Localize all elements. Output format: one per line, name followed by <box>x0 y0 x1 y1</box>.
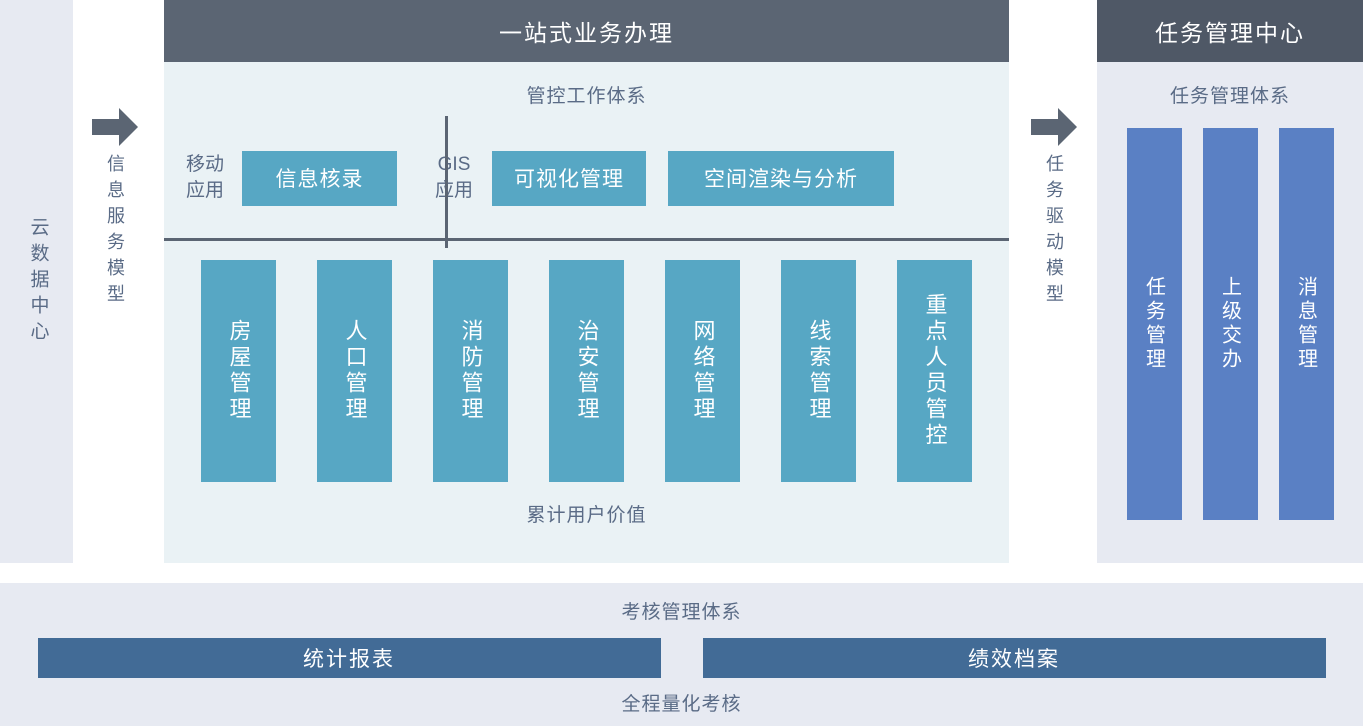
module-clue-management[interactable]: 线索管理 <box>781 260 856 482</box>
assessment-panel-footer: 全程量化考核 <box>0 678 1363 716</box>
gis-application-label: GIS 应用 <box>435 152 473 203</box>
module-population-management[interactable]: 人口管理 <box>317 260 392 482</box>
task-column-superior-assignment[interactable]: 上级交办 <box>1203 128 1258 520</box>
assessment-management-panel: 考核管理体系 统计报表 绩效档案 全程量化考核 <box>0 583 1363 726</box>
assessment-bars: 统计报表 绩效档案 <box>0 624 1363 678</box>
task-management-center-panel: 任务管理中心 任务管理体系 任务管理 上级交办 消息管理 <box>1097 0 1363 563</box>
right-panel-header-label: 任务管理中心 <box>1155 14 1305 48</box>
app-chip-visual-management[interactable]: 可视化管理 <box>492 151 646 206</box>
cloud-data-center-column: 云数据中心 <box>0 0 73 563</box>
module-public-security-management[interactable]: 治安管理 <box>549 260 624 482</box>
applications-row: 移动 应用 信息核录 GIS 应用 可视化管理 空间渲染与分析 <box>164 108 1009 248</box>
task-column-task-management[interactable]: 任务管理 <box>1127 128 1182 520</box>
app-chip-spatial-rendering-analysis[interactable]: 空间渲染与分析 <box>668 151 894 206</box>
information-service-model-label: 信息服务模型 <box>102 154 128 310</box>
assessment-bar-performance-archive[interactable]: 绩效档案 <box>703 638 1326 678</box>
one-stop-business-panel: 一站式业务办理 管控工作体系 移动 应用 信息核录 GIS 应用 可视化管理 空 <box>164 0 1009 563</box>
diagram-root: 云数据中心 信息服务模型 一站式业务办理 管控工作体系 移动 应用 信息核录 <box>0 0 1363 726</box>
mobile-application-label: 移动 应用 <box>186 152 224 203</box>
module-key-personnel-control[interactable]: 重点人员管控 <box>897 260 972 482</box>
center-panel-header: 一站式业务办理 <box>164 0 1009 62</box>
assessment-panel-title: 考核管理体系 <box>0 583 1363 624</box>
right-panel-header: 任务管理中心 <box>1097 0 1363 62</box>
module-columns: 房屋管理 人口管理 消防管理 治安管理 网络管理 线索管理 重点人员管控 <box>164 260 1009 482</box>
module-network-management[interactable]: 网络管理 <box>665 260 740 482</box>
cloud-data-center-label: 云数据中心 <box>22 217 52 347</box>
module-housing-management[interactable]: 房屋管理 <box>201 260 276 482</box>
task-columns: 任务管理 上级交办 消息管理 <box>1097 128 1363 520</box>
applications-divider <box>445 116 448 248</box>
task-driven-model-label: 任务驱动模型 <box>1041 154 1067 310</box>
task-column-message-management[interactable]: 消息管理 <box>1279 128 1334 520</box>
assessment-bar-statistical-report[interactable]: 统计报表 <box>38 638 661 678</box>
task-driven-model-group: 任务驱动模型 <box>1024 108 1084 310</box>
center-panel-header-label: 一站式业务办理 <box>499 14 674 48</box>
app-chip-information-entry[interactable]: 信息核录 <box>242 151 397 206</box>
center-panel-footer: 累计用户价值 <box>164 500 1009 527</box>
right-arrow-icon <box>1031 108 1077 146</box>
center-panel-horizontal-divider <box>164 238 1009 241</box>
right-arrow-icon <box>92 108 138 146</box>
right-panel-subtitle: 任务管理体系 <box>1097 62 1363 108</box>
module-fire-management[interactable]: 消防管理 <box>433 260 508 482</box>
center-panel-subtitle: 管控工作体系 <box>164 62 1009 108</box>
information-service-model-group: 信息服务模型 <box>85 108 145 310</box>
